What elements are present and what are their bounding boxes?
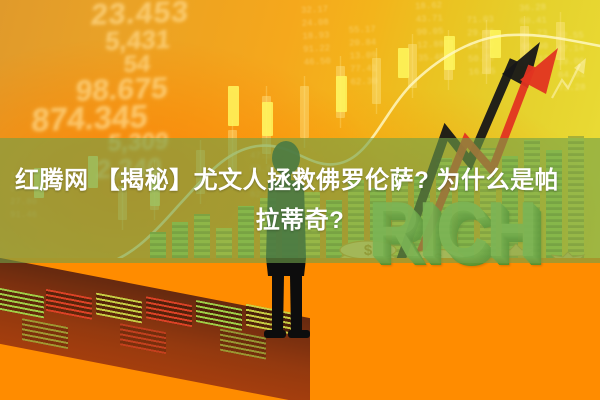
headline-line-2: 拉蒂奇? (256, 202, 345, 240)
headline-line-1: 红腾网 【揭秘】尤文人拯救佛罗伦萨? 为什么是帕 (15, 162, 559, 200)
headline-block: 红腾网 【揭秘】尤文人拯救佛罗伦萨? 为什么是帕 拉蒂奇? (0, 138, 600, 263)
thumbnail-image: 23.453 5,431 54 98.675 874.345 5,309 2,3… (0, 0, 600, 400)
